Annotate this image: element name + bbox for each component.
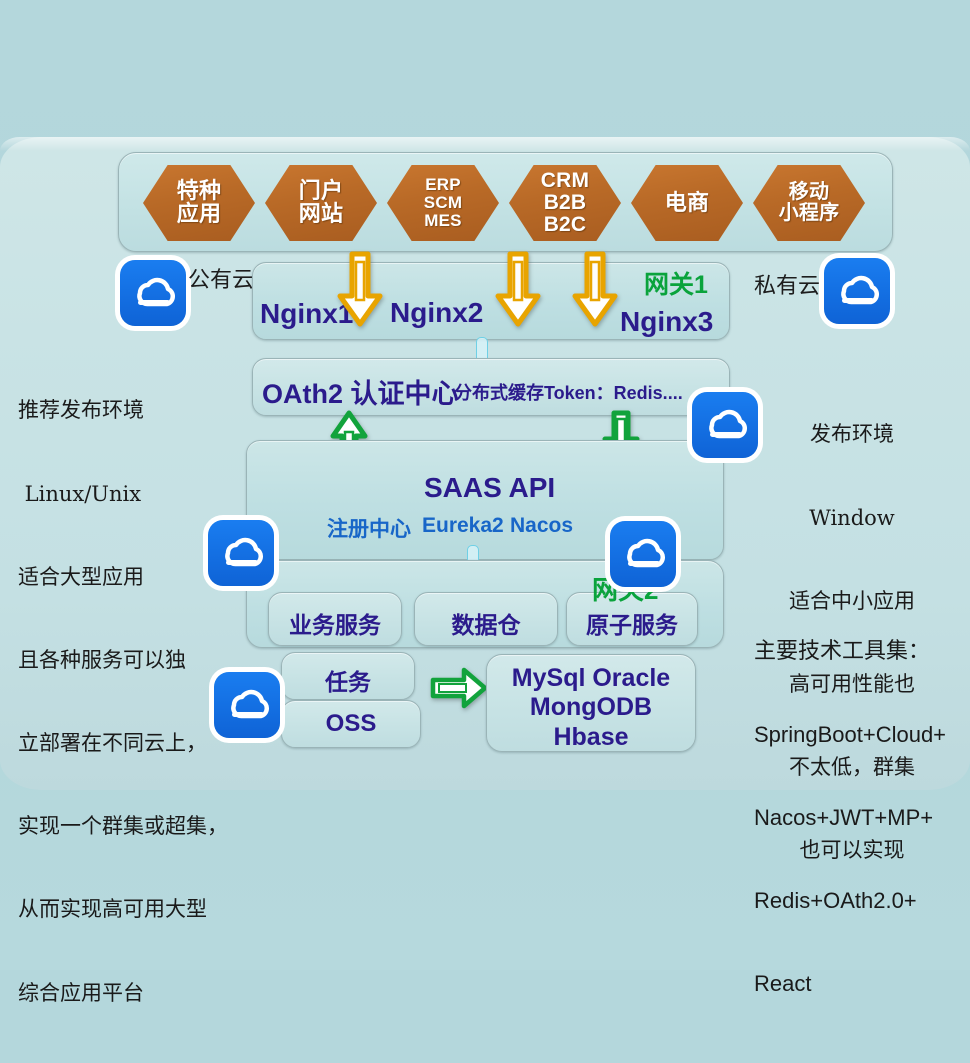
hex-portal[interactable]: 门户网站 <box>265 165 377 241</box>
private-cloud-icon[interactable] <box>824 258 890 324</box>
database-labels: MySql Oracle MongODB Hbase <box>486 664 696 752</box>
registry-label: 注册中心 <box>327 513 411 543</box>
db-line: MongODB <box>530 693 652 721</box>
right-note-line: Window <box>752 505 952 533</box>
public-cloud-label: 公有云 <box>188 262 254 294</box>
left-note-line: 且各种服务可以独 <box>18 647 228 675</box>
gold-down-arrow-icon <box>495 250 541 335</box>
oauth2-title: OAth2 认证中心 <box>262 372 459 411</box>
hex-line: 应用 <box>177 201 221 226</box>
cloud-glyph-icon <box>223 684 271 726</box>
hex-line: 特种 <box>177 178 221 203</box>
hex-special-app[interactable]: 特种应用 <box>143 165 255 241</box>
left-note-line: 立部署在不同云上， <box>18 730 228 758</box>
tech-note-line: React <box>754 970 946 998</box>
cloud-icon-gateway2[interactable] <box>610 521 676 587</box>
left-note-line: 综合应用平台 <box>18 980 228 1008</box>
tech-note-line: 主要技术工具集： <box>754 637 946 665</box>
gold-down-arrow-icon <box>337 250 383 335</box>
gold-down-arrow-icon <box>572 250 618 335</box>
green-right-arrow-icon <box>430 666 488 715</box>
saas-api-title: SAAS API <box>424 472 555 504</box>
right-note-line: 发布环境 <box>752 421 952 449</box>
hex-line: 移动 <box>789 181 829 203</box>
nacos-label: Nacos <box>510 514 573 538</box>
diagram-canvas: 特种应用 门户网站 ERPSCMMES CRMB2BB2C 电商 移动小程序 公… <box>0 0 970 970</box>
hex-line: ERP <box>425 175 461 194</box>
tech-note: 主要技术工具集： SpringBoot+Cloud+ Nacos+JWT+MP+… <box>754 582 946 1053</box>
business-service-label: 业务服务 <box>268 606 402 640</box>
left-note-line: 适合大型应用 <box>18 564 228 592</box>
hex-erp[interactable]: ERPSCMMES <box>387 165 499 241</box>
db-line: MySql Oracle <box>512 664 670 692</box>
left-note-line: 实现一个群集或超集， <box>18 813 228 841</box>
hex-line: 门户 <box>299 178 343 203</box>
cloud-glyph-icon <box>129 272 177 314</box>
tech-note-line: Redis+OAth2.0+ <box>754 887 946 915</box>
hex-mobile[interactable]: 移动小程序 <box>753 165 865 241</box>
application-layer-row: 特种应用 门户网站 ERPSCMMES CRMB2BB2C 电商 移动小程序 <box>118 152 893 252</box>
nginx2-label: Nginx2 <box>390 297 483 329</box>
cloud-icon-auth[interactable] <box>692 392 758 458</box>
private-cloud-label: 私有云 <box>754 268 820 300</box>
tech-note-line: SpringBoot+Cloud+ <box>754 721 946 749</box>
auth-subtitle: 分布式缓存Token：Redis.... <box>454 379 683 405</box>
cloud-glyph-icon <box>833 270 881 312</box>
db-line: Hbase <box>553 723 628 751</box>
left-note-line: Linux/Unix <box>18 481 228 509</box>
tech-note-line: Nacos+JWT+MP+ <box>754 804 946 832</box>
hex-line: MES <box>424 211 461 230</box>
task-label: 任务 <box>281 663 415 697</box>
hex-line: 电商 <box>665 190 709 215</box>
cloud-glyph-icon <box>619 533 667 575</box>
atomic-service-label: 原子服务 <box>566 606 698 640</box>
hex-line: 小程序 <box>779 202 840 224</box>
gateway1-label: 网关1 <box>644 265 708 301</box>
hex-line: 网站 <box>299 201 343 226</box>
data-warehouse-label: 数据仓 <box>414 606 558 640</box>
left-note-line: 推荐发布环境 <box>18 397 228 425</box>
left-note-line: 从而实现高可用大型 <box>18 896 228 924</box>
hex-line: SCM <box>424 193 462 212</box>
hex-crm[interactable]: CRMB2BB2C <box>509 165 621 241</box>
oss-label: OSS <box>281 710 421 738</box>
cloud-glyph-icon <box>701 404 749 446</box>
eureka2-label: Eureka2 <box>422 514 504 538</box>
hex-line: B2C <box>544 213 587 236</box>
hex-line: CRM <box>541 169 589 192</box>
hex-line: B2B <box>544 191 587 214</box>
left-note: 推荐发布环境 Linux/Unix 适合大型应用 且各种服务可以独 立部署在不同… <box>18 342 228 1063</box>
hex-ecommerce[interactable]: 电商 <box>631 165 743 241</box>
nginx3-label: Nginx3 <box>620 306 713 338</box>
public-cloud-icon[interactable] <box>120 260 186 326</box>
